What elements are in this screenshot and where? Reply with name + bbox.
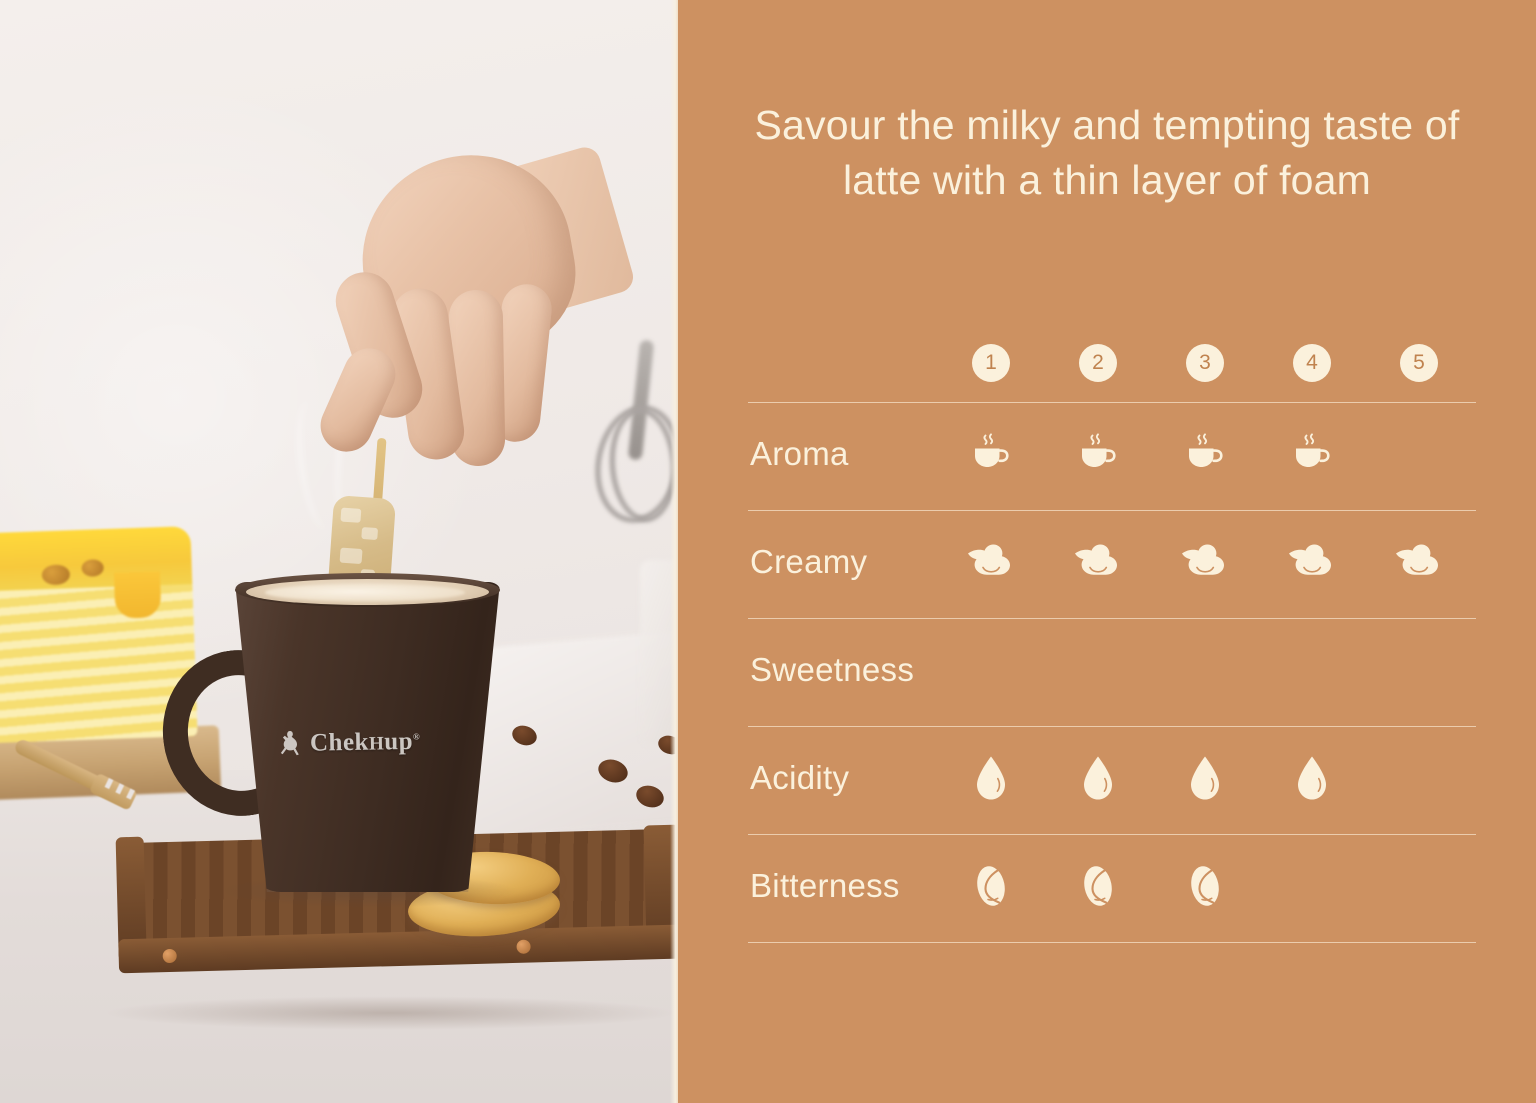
cream-swirl-icon — [1389, 531, 1449, 593]
divider — [748, 942, 1476, 943]
tray-shadow — [100, 996, 678, 1030]
coffee-cup-icon — [961, 423, 1021, 485]
product-photo: ChekHup® — [0, 0, 678, 1103]
brand-name: ChekHup® — [310, 728, 421, 758]
table-row: Creamy — [748, 511, 1476, 618]
water-drop-icon — [1282, 747, 1342, 809]
cream-swirl-icon — [1068, 531, 1128, 593]
rooster-emblem-icon — [277, 729, 304, 759]
tray-rivet — [516, 940, 530, 954]
scale-number-2: 2 — [1079, 344, 1117, 382]
scale-number-1: 1 — [972, 344, 1010, 382]
water-drop-icon — [961, 747, 1021, 809]
water-drop-icon — [1175, 747, 1235, 809]
coffee-cup-icon — [1175, 423, 1235, 485]
cream-swirl-icon — [1175, 531, 1235, 593]
brand-logo: ChekHup® — [277, 727, 421, 759]
row-label-aroma: Aroma — [750, 435, 849, 473]
coffee-mug: ChekHup® — [205, 582, 525, 902]
coffee-cup-icon — [1068, 423, 1128, 485]
row-label-bitterness: Bitterness — [750, 867, 900, 905]
photo-panel-seam — [670, 0, 678, 1103]
cream-swirl-icon — [961, 531, 1021, 593]
scale-header-row: 1 2 3 4 5 — [748, 340, 1476, 402]
scale-number-5: 5 — [1400, 344, 1438, 382]
table-row: Aroma — [748, 403, 1476, 510]
scale-number-4: 4 — [1293, 344, 1331, 382]
water-drop-icon — [1068, 747, 1128, 809]
cream-swirl-icon — [1282, 531, 1342, 593]
page-title: Savour the milky and tempting taste of l… — [678, 98, 1536, 207]
table-row: Acidity — [748, 727, 1476, 834]
scale-number-3: 3 — [1186, 344, 1224, 382]
coffee-cup-icon — [1282, 423, 1342, 485]
row-label-acidity: Acidity — [750, 759, 849, 797]
table-row: Bitterness — [748, 835, 1476, 942]
table-row: Sweetness — [748, 619, 1476, 726]
tray-rivet — [163, 949, 177, 963]
flavour-table: 1 2 3 4 5 Aroma Creamy Sweetness — [748, 340, 1476, 943]
hand — [326, 150, 586, 480]
coffee-bean-icon — [1068, 855, 1128, 917]
flavour-profile-panel: Savour the milky and tempting taste of l… — [678, 0, 1536, 1103]
coffee-bean-icon — [1175, 855, 1235, 917]
poster-root: ChekHup® Savour the milky and tempting t… — [0, 0, 1536, 1103]
cake-drip — [114, 571, 162, 619]
milk-foam — [265, 584, 465, 601]
row-label-sweetness: Sweetness — [750, 651, 914, 689]
row-label-creamy: Creamy — [750, 543, 867, 581]
coffee-bean-icon — [961, 855, 1021, 917]
